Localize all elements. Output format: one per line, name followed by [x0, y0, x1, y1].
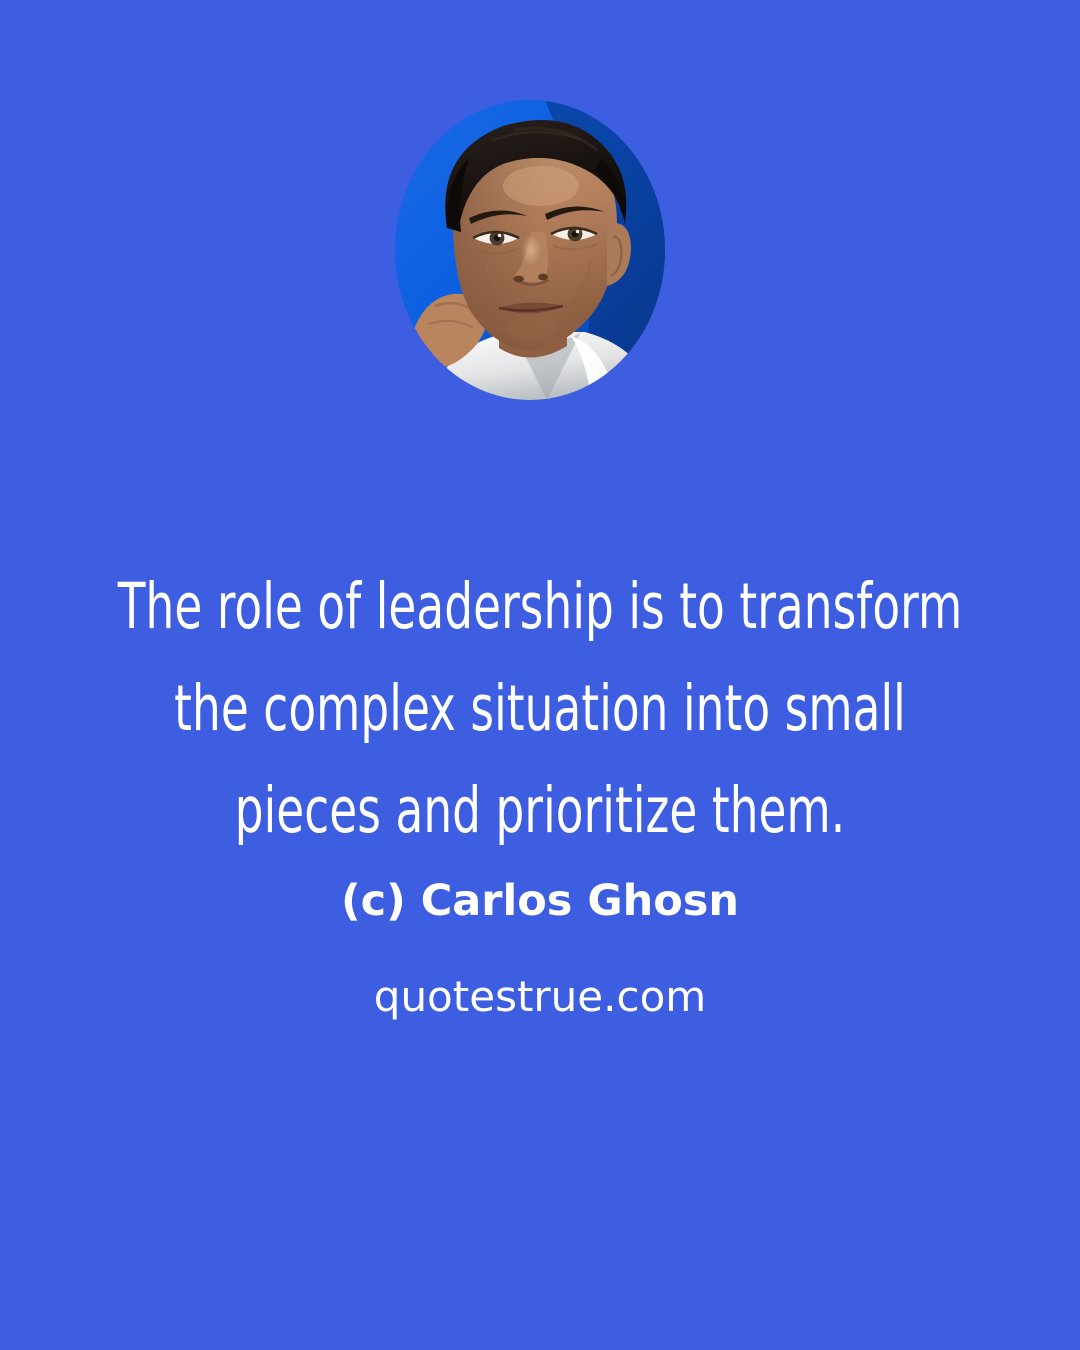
quote-card: The role of leadership is to transform t… [0, 0, 1080, 1350]
avatar [395, 100, 665, 400]
source-website: quotestrue.com [0, 968, 1080, 1026]
quote-line: The role of leadership is to transform [108, 556, 972, 658]
quote-text: The role of leadership is to transform t… [0, 556, 1080, 862]
quote-attribution: (c) Carlos Ghosn [0, 872, 1080, 930]
quote-line: pieces and prioritize them. [108, 760, 972, 862]
portrait-avatar-icon [395, 100, 665, 400]
quote-line: the complex situation into small [108, 658, 972, 760]
